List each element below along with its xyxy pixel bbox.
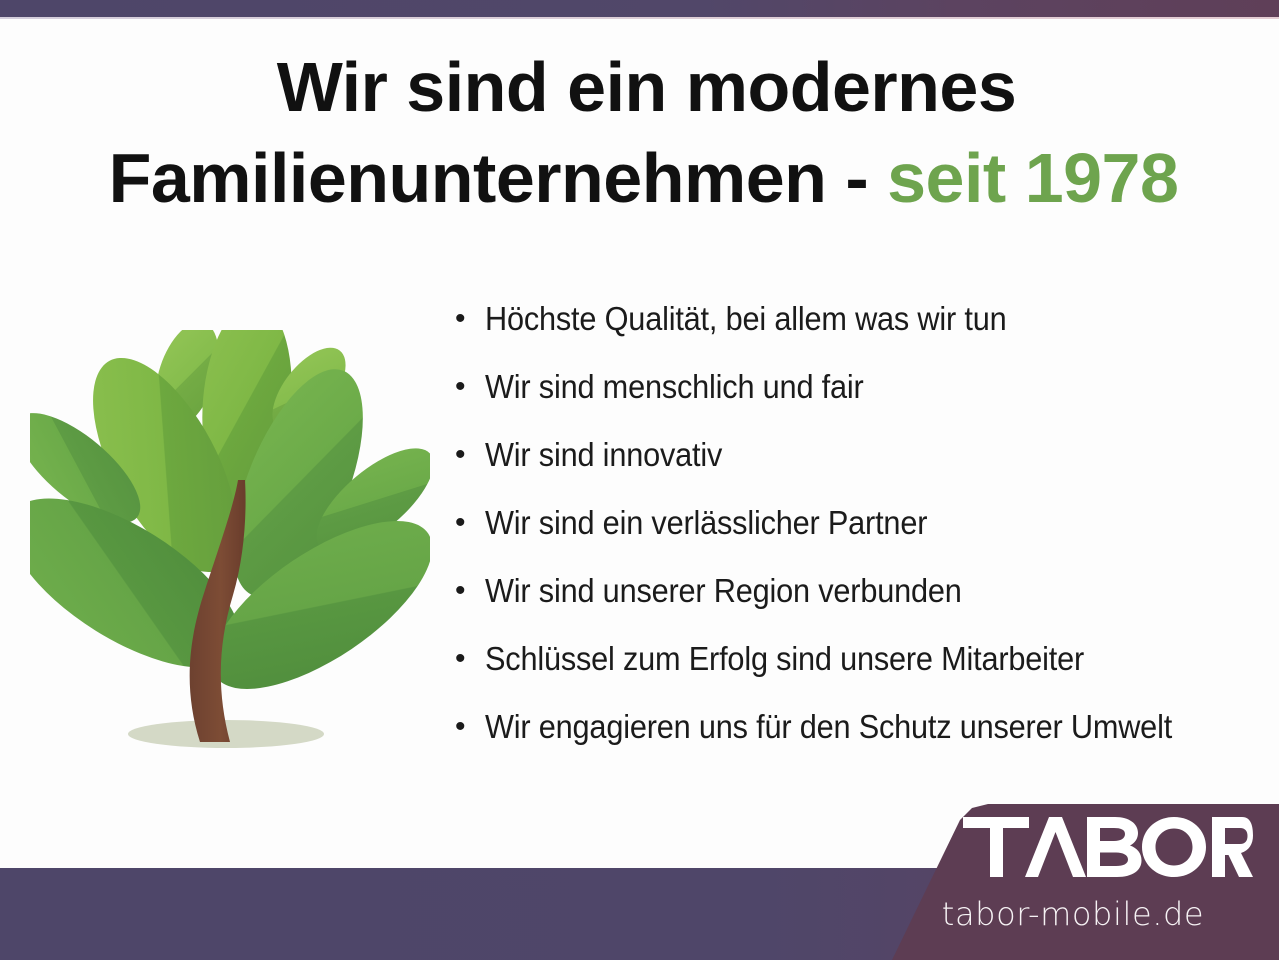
top-accent-underline bbox=[0, 17, 1279, 19]
bullet-point-icon: • bbox=[455, 372, 485, 402]
logo-domain-label: tabor-mobile.de bbox=[884, 895, 1262, 933]
list-item: • Schlüssel zum Erfolg sind unsere Mitar… bbox=[455, 640, 1265, 708]
headline-accent-year: seit 1978 bbox=[887, 139, 1178, 217]
list-item-label: Höchste Qualität, bei allem was wir tun bbox=[485, 300, 1007, 338]
list-item-label: Wir engagieren uns für den Schutz unsere… bbox=[485, 708, 1172, 746]
list-item: • Wir sind menschlich und fair bbox=[455, 368, 1265, 436]
headline-line-2-plain: Familienunternehmen - bbox=[109, 139, 888, 217]
list-item-label: Wir sind menschlich und fair bbox=[485, 368, 864, 406]
list-item: • Wir sind innovativ bbox=[455, 436, 1265, 504]
logo-content: tabor-mobile.de bbox=[884, 802, 1279, 960]
slide-canvas: Wir sind ein modernes Familienunternehme… bbox=[0, 0, 1279, 960]
list-item-label: Wir sind unserer Region verbunden bbox=[485, 572, 962, 610]
bullet-point-icon: • bbox=[455, 440, 485, 470]
tabor-wordmark-icon bbox=[963, 817, 1253, 877]
bullet-point-icon: • bbox=[455, 304, 485, 334]
list-item-label: Wir sind innovativ bbox=[485, 436, 722, 474]
headline-line-2: Familienunternehmen - seit 1978 bbox=[0, 143, 1279, 213]
value-list: • Höchste Qualität, bei allem was wir tu… bbox=[455, 300, 1265, 776]
list-item: • Wir sind unserer Region verbunden bbox=[455, 572, 1265, 640]
list-item-label: Schlüssel zum Erfolg sind unsere Mitarbe… bbox=[485, 640, 1084, 678]
bullet-point-icon: • bbox=[455, 644, 485, 674]
top-accent-bar bbox=[0, 0, 1279, 17]
list-item-label: Wir sind ein verlässlicher Partner bbox=[485, 504, 927, 542]
headline-line-1: Wir sind ein modernes bbox=[0, 52, 1279, 122]
list-item: • Höchste Qualität, bei allem was wir tu… bbox=[455, 300, 1265, 368]
list-item: • Wir sind ein verlässlicher Partner bbox=[455, 504, 1265, 572]
tree-illustration bbox=[30, 330, 430, 760]
bullet-point-icon: • bbox=[455, 508, 485, 538]
brand-logo-panel: tabor-mobile.de bbox=[884, 802, 1279, 960]
bullet-point-icon: • bbox=[455, 576, 485, 606]
bullet-point-icon: • bbox=[455, 712, 485, 742]
list-item: • Wir engagieren uns für den Schutz unse… bbox=[455, 708, 1265, 776]
page-title: Wir sind ein modernes Familienunternehme… bbox=[0, 52, 1279, 213]
